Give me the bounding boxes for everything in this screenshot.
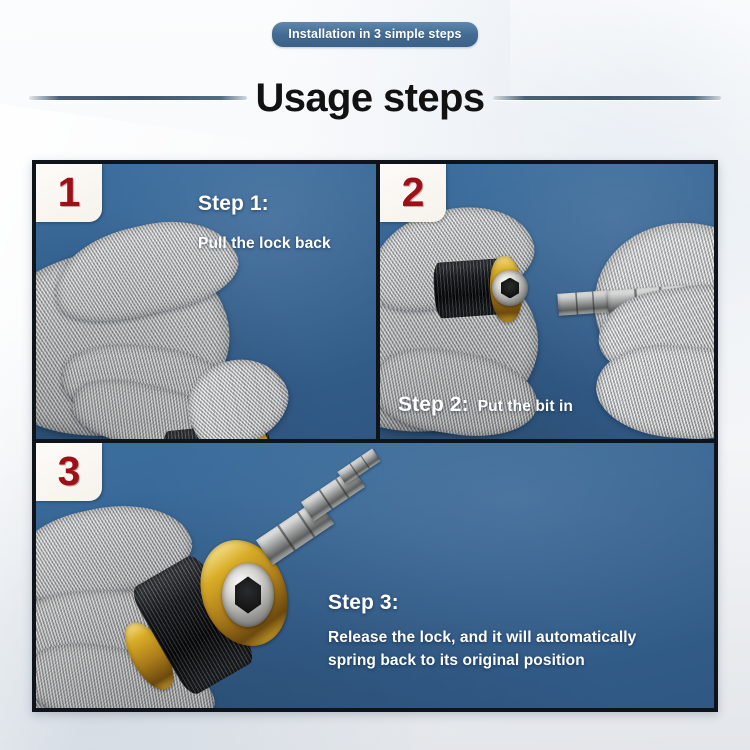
step-panel-1: 1 Step 1: Pull the lock back [36,164,376,439]
step-1-caption: Step 1: Pull the lock back [198,192,331,253]
step-1-heading: Step 1: [198,192,331,216]
step-3-detail-line-1: Release the lock, and it will automatica… [328,627,636,650]
step-1-detail: Pull the lock back [198,235,331,253]
title-rule-right [493,96,721,100]
title-row: Usage steps [0,72,750,124]
hex-socket-hole-icon [233,576,263,613]
step-2-caption: Step 2: Put the bit in [398,393,573,417]
page-title: Usage steps [255,78,484,118]
installation-steps-badge: Installation in 3 simple steps [272,22,477,47]
title-rule-left [29,96,247,100]
step-3-detail-line-2: spring back to its original position [328,650,636,673]
badge-row: Installation in 3 simple steps [0,22,750,47]
step-number-3: 3 [58,451,81,492]
step-3-detail: Release the lock, and it will automatica… [328,627,636,673]
step-number-badge-1: 1 [36,164,102,222]
step-number-1: 1 [58,172,81,213]
step-panel-2: 2 Step 2: Put the bit in [380,164,718,439]
step-3-caption: Step 3: Release the lock, and it will au… [328,591,636,673]
hex-socket-hole-icon [500,278,521,299]
step-3-heading: Step 3: [328,591,636,615]
step-number-2: 2 [402,172,425,213]
hex-socket-icon [222,563,274,627]
step-2-heading: Step 2: [398,393,469,417]
step-number-badge-3: 3 [36,443,102,501]
step-2-detail: Put the bit in [478,398,573,416]
hex-socket-icon [492,270,528,306]
step-number-badge-2: 2 [380,164,446,222]
hex-bit-tip-icon [557,290,610,316]
usage-steps-grid: 1 Step 1: Pull the lock back 2 Step 2: P… [32,160,718,712]
step-panel-3: 3 Step 3: Release the lock, and it will … [36,443,718,712]
